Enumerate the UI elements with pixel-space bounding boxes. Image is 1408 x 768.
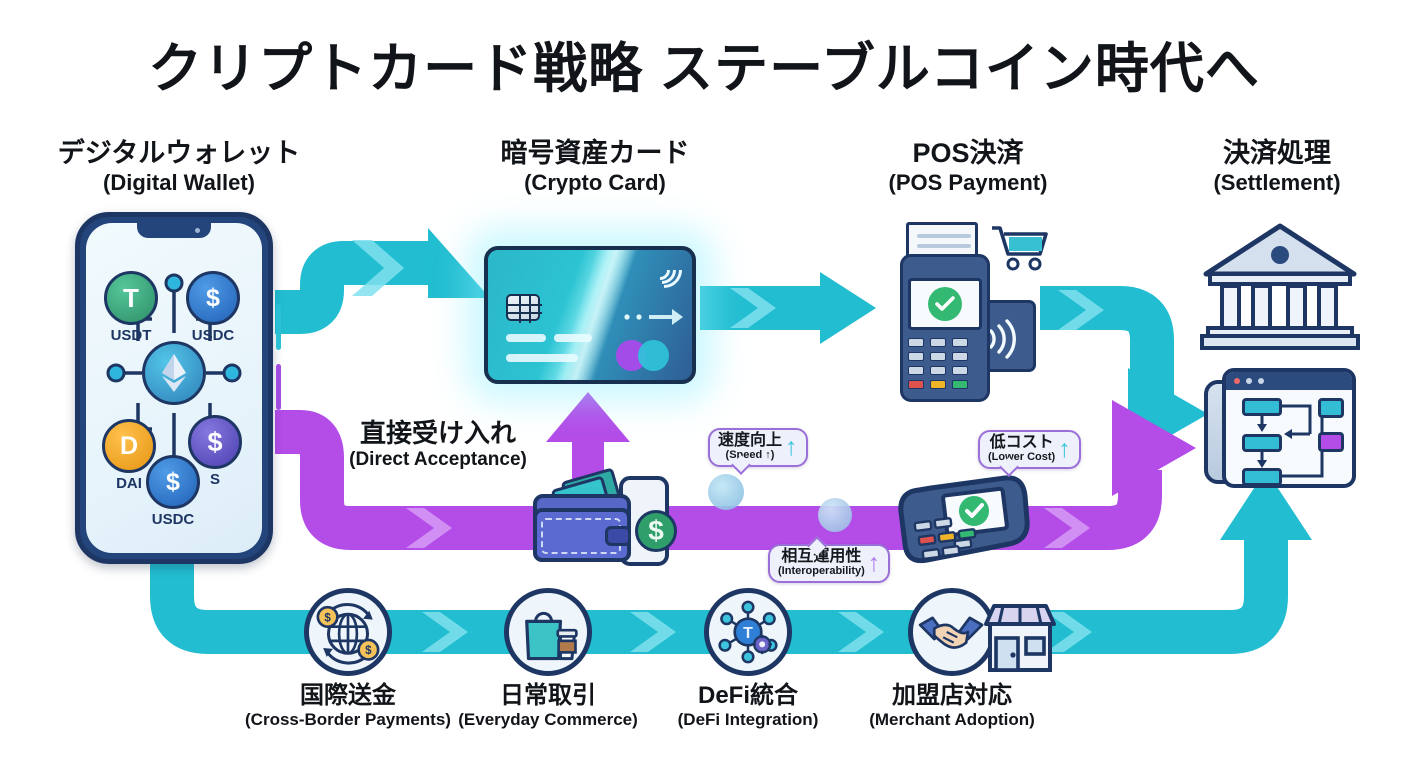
speed-connector-node (708, 474, 744, 510)
shopping-cart-icon (990, 224, 1050, 272)
coin-usdc-top-label: USDC (178, 327, 248, 344)
svg-text:$: $ (324, 612, 331, 624)
card-transfer-arrow-icon (622, 306, 684, 328)
badge-speed-arrow-icon: ↑ (785, 436, 798, 459)
bank-building-icon (1200, 222, 1360, 352)
column-header-settlement-jp: 決済処理 (1152, 138, 1402, 170)
card-chip-icon (506, 294, 540, 321)
column-header-wallet-jp: デジタルウォレット (50, 138, 308, 170)
phone-side-button-2[interactable] (276, 364, 281, 410)
arrow-card-to-pos (700, 272, 876, 344)
bottom-label-merchant: 加盟店対応 (Merchant Adoption) (822, 682, 1082, 729)
bottom-node-defi[interactable]: T (704, 588, 792, 676)
window-maximize-dot[interactable] (1258, 378, 1264, 384)
phone-notch (137, 223, 211, 238)
svg-text:$: $ (365, 645, 372, 657)
card-line-1 (506, 334, 546, 342)
column-header-settlement-en: (Settlement) (1152, 170, 1402, 196)
merchant-pos-icon (893, 470, 1033, 580)
pos-approved-check-icon (928, 287, 962, 321)
coin-usdc-bottom-label: USDC (138, 511, 208, 528)
badge-speed-text: 速度向上 (Speed ↑) (718, 433, 782, 461)
window-minimize-dot[interactable] (1246, 378, 1252, 384)
badge-cost-arrow-icon: ↑ (1058, 438, 1071, 461)
window-titlebar (1226, 372, 1352, 390)
direct-wallet-phone-icon: $ (527, 470, 679, 568)
pos-keypad[interactable] (908, 338, 984, 396)
direct-acceptance-jp: 直接受け入れ (338, 418, 538, 449)
coin-usdc-bottom-icon: $ (146, 455, 200, 509)
coin-dai-icon: D (102, 419, 156, 473)
bottom-node-cross-border[interactable]: $ $ (304, 588, 392, 676)
handshake-store-icon (913, 593, 991, 671)
pos-screen (908, 278, 982, 330)
badge-cost-text: 低コスト (Lower Cost) (988, 435, 1055, 463)
bottom-node-merchant[interactable] (908, 588, 996, 676)
flow-node-5 (1318, 432, 1344, 452)
column-header-wallet: デジタルウォレット (Digital Wallet) (50, 138, 308, 196)
settlement-flowchart-window (1204, 368, 1356, 488)
badge-interoperability: 相互運用性 (Interoperability) ↑ (768, 544, 890, 583)
badge-lower-cost: 低コスト (Lower Cost) ↑ (978, 430, 1081, 469)
card-brand-circle-cyan (638, 340, 669, 371)
interop-connector-node (818, 498, 852, 532)
crypto-card-face (484, 246, 696, 384)
flow-node-2 (1242, 434, 1282, 452)
window-body (1222, 368, 1356, 488)
badge-speed-en: (Speed ↑) (726, 450, 775, 462)
column-header-pos-en: (POS Payment) (840, 170, 1096, 196)
ethereum-hub-icon (142, 341, 206, 405)
phone-screen: T USDT $ USDC D DAI $ S $ USDC (86, 223, 262, 553)
svg-text:T: T (743, 625, 753, 642)
coin-s-icon: $ (188, 415, 242, 469)
coin-usdt-icon: T (104, 271, 158, 325)
phone-camera-dot (195, 228, 200, 233)
bottom-node-everyday[interactable] (504, 588, 592, 676)
badge-interop-jp: 相互運用性 (781, 549, 861, 566)
dollar-badge-icon: $ (635, 510, 677, 552)
badge-speed-jp: 速度向上 (718, 433, 782, 450)
column-header-card-jp: 暗号資産カード (466, 138, 724, 170)
coin-usdt-label: USDT (96, 327, 166, 344)
badge-interop-arrow-icon: ↑ (868, 552, 881, 575)
flow-node-3 (1242, 468, 1282, 486)
column-header-card: 暗号資産カード (Crypto Card) (466, 138, 724, 196)
storefront-icon (984, 598, 1056, 672)
badge-speed: 速度向上 (Speed ↑) ↑ (708, 428, 808, 467)
bottom-label-merchant-en: (Merchant Adoption) (822, 710, 1082, 730)
direct-acceptance-label: 直接受け入れ (Direct Acceptance) (338, 418, 538, 471)
column-header-wallet-en: (Digital Wallet) (50, 170, 308, 196)
bottom-label-merchant-jp: 加盟店対応 (822, 682, 1082, 710)
arrow-wallet-to-card (275, 228, 490, 312)
flow-node-1 (1242, 398, 1282, 416)
wallet-clasp (605, 526, 631, 546)
pos-terminal (878, 222, 1058, 402)
badge-cost-en: (Lower Cost) (988, 452, 1055, 464)
flow-node-4 (1318, 398, 1344, 418)
digital-wallet-phone: T USDT $ USDC D DAI $ S $ USDC (75, 212, 273, 564)
card-contactless-arc-3 (639, 246, 690, 295)
shopping-bag-icon (509, 593, 587, 671)
column-header-card-en: (Crypto Card) (466, 170, 724, 196)
column-header-settlement: 決済処理 (Settlement) (1152, 138, 1402, 196)
phone-side-button-1[interactable] (276, 304, 281, 350)
window-close-dot[interactable] (1234, 378, 1240, 384)
coin-usdc-top-icon: $ (186, 271, 240, 325)
defi-network-icon: T (709, 593, 787, 671)
ethereum-glyph (161, 353, 187, 393)
infographic-canvas: クリプトカード戦略 ステーブルコイン時代へ (0, 0, 1408, 768)
badge-interop-en: (Interoperability) (778, 566, 865, 578)
crypto-card (484, 246, 696, 384)
globe-exchange-icon: $ $ (309, 593, 387, 671)
direct-acceptance-en: (Direct Acceptance) (338, 449, 538, 471)
column-header-pos: POS決済 (POS Payment) (840, 138, 1096, 196)
badge-interop-text: 相互運用性 (Interoperability) (778, 549, 865, 577)
column-header-pos-jp: POS決済 (840, 138, 1096, 170)
badge-cost-jp: 低コスト (990, 435, 1054, 452)
